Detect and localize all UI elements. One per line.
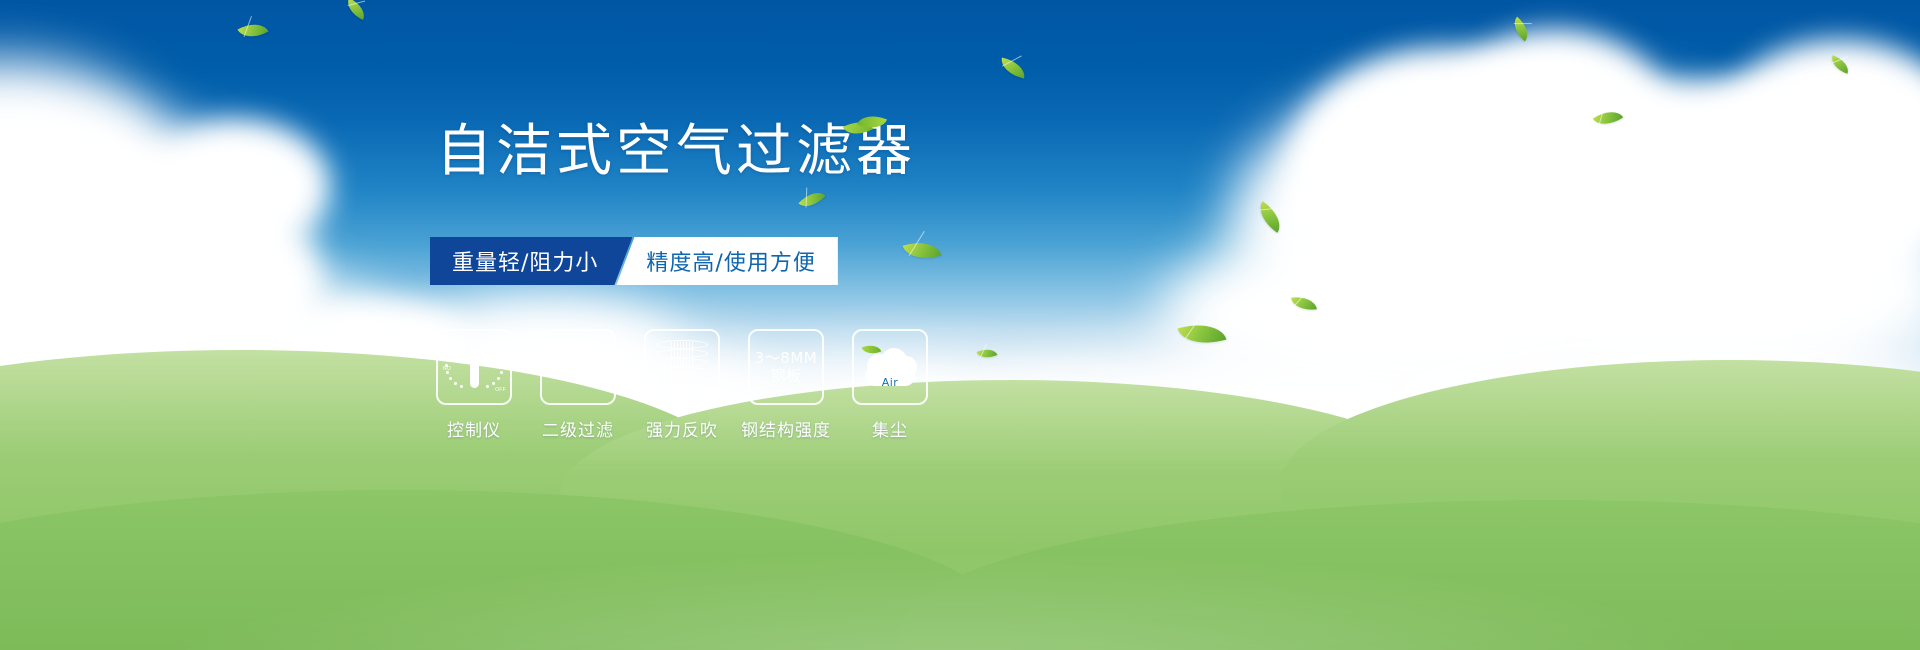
banner-content: 自洁式空气过滤器 重量轻/阻力小 精度高/使用方便 bbox=[0, 0, 1920, 650]
feature-item-strong-backblow[interactable]: 强力反吹 bbox=[644, 329, 720, 441]
feature-box-line1: 0.6～0.8 bbox=[545, 349, 611, 367]
feature-item-control-instrument[interactable]: NO OFF 控制仪 bbox=[436, 329, 512, 441]
steel-plate-text-icon: 3～8MM 钢板 bbox=[755, 349, 817, 385]
feature-caption: 钢结构强度 bbox=[741, 416, 831, 441]
tagline-pill-secondary: 精度高/使用方便 bbox=[616, 237, 837, 285]
feature-box: Air bbox=[852, 329, 928, 405]
feature-item-steel-structure-strength[interactable]: 3～8MM 钢板 钢结构强度 bbox=[748, 329, 824, 441]
feature-item-dust-collection[interactable]: Air 集尘 bbox=[852, 329, 928, 441]
feature-box bbox=[644, 329, 720, 405]
feature-box-line2: MPA bbox=[545, 367, 611, 385]
dial-label-off: OFF bbox=[495, 387, 506, 393]
feature-box: 0.6～0.8 MPA bbox=[540, 329, 616, 405]
tagline-pill-group: 重量轻/阻力小 精度高/使用方便 bbox=[430, 237, 838, 285]
air-cloud-icon: Air bbox=[861, 344, 919, 390]
feature-caption: 强力反吹 bbox=[646, 416, 718, 441]
pressure-text-icon: 0.6～0.8 MPA bbox=[545, 349, 611, 385]
page-title: 自洁式空气过滤器 bbox=[436, 122, 916, 182]
air-label: Air bbox=[861, 376, 919, 389]
control-dial-icon: NO OFF bbox=[444, 338, 504, 396]
feature-icon-row: NO OFF 控制仪 0.6～0.8 MPA 二级过滤 bbox=[436, 329, 928, 441]
filter-coil-icon bbox=[656, 339, 708, 395]
product-hero-banner: 自洁式空气过滤器 重量轻/阻力小 精度高/使用方便 bbox=[0, 0, 1920, 650]
feature-box: NO OFF bbox=[436, 329, 512, 405]
feature-box: 3～8MM 钢板 bbox=[748, 329, 824, 405]
title-leaf-icon bbox=[845, 110, 885, 144]
feature-item-two-stage-filtration[interactable]: 0.6～0.8 MPA 二级过滤 bbox=[540, 329, 616, 441]
feature-caption: 二级过滤 bbox=[542, 416, 614, 441]
feature-caption: 控制仪 bbox=[447, 416, 501, 441]
feature-box-line2: 钢板 bbox=[755, 367, 817, 385]
feature-caption: 集尘 bbox=[872, 416, 908, 441]
tagline-pill-primary: 重量轻/阻力小 bbox=[430, 237, 632, 285]
feature-box-line1: 3～8MM bbox=[755, 349, 817, 367]
dial-label-no: NO bbox=[443, 366, 451, 372]
